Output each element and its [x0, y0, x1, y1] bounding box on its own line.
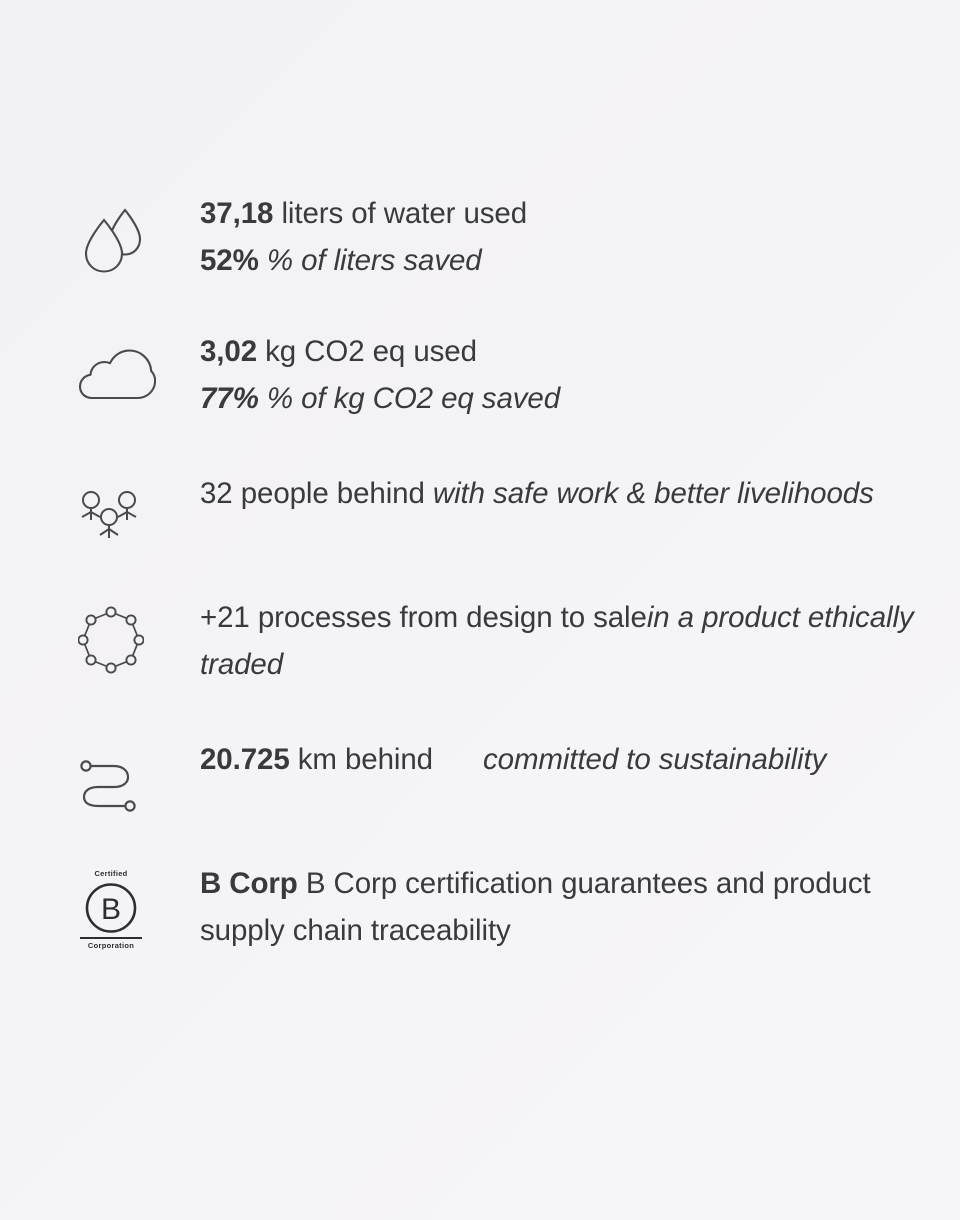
impact-value: 77%	[200, 382, 259, 415]
bcorp-certified-label: Certified	[78, 870, 144, 878]
impact-text-processes: +21 processes from design to salein a pr…	[200, 594, 920, 688]
impact-label: kg CO2 eq used	[265, 335, 477, 368]
impact-value: 37,18	[200, 197, 273, 230]
bcorp-certified-icon: Certified B Corporation	[78, 860, 200, 949]
impact-row-bcorp: Certified B Corporation B Corp B Corp ce…	[78, 860, 920, 954]
impact-label: with safe work & better livelihoods	[433, 477, 874, 510]
impact-text-bcorp: B Corp B Corp certification guarantees a…	[200, 860, 920, 954]
svg-text:B: B	[101, 893, 121, 926]
impact-text-kilometers: 20.725 km behind committed to sustainabi…	[200, 736, 920, 783]
impact-text-co2: 3,02 kg CO2 eq used 77% % of kg CO2 eq s…	[200, 328, 920, 422]
impact-value: B Corp	[200, 867, 298, 900]
impact-label: km behind	[298, 743, 433, 776]
impact-value: 52%	[200, 244, 259, 277]
impact-row-people: 32 people behind with safe work & better…	[78, 470, 920, 542]
cloud-icon	[78, 328, 200, 404]
process-chain-icon	[78, 594, 200, 674]
impact-text-people: 32 people behind with safe work & better…	[200, 470, 920, 517]
impact-value: 20.725	[200, 743, 290, 776]
impact-row-kilometers: 20.725 km behind committed to sustainabi…	[78, 736, 920, 814]
impact-line: 52% % of liters saved	[200, 237, 920, 284]
kilometers-column-primary: 20.725 km behind	[200, 736, 483, 783]
impact-line: 3,02 kg CO2 eq used	[200, 328, 920, 375]
impact-value: 3,02	[200, 335, 257, 368]
kilometers-column-secondary: committed to sustainability	[483, 736, 920, 783]
impact-line: 77% % of kg CO2 eq saved	[200, 375, 920, 422]
route-icon	[78, 736, 200, 814]
people-group-icon	[78, 470, 200, 542]
impact-row-processes: +21 processes from design to salein a pr…	[78, 594, 920, 688]
sustainability-impact-panel: 37,18 liters of water used 52% % of lite…	[0, 0, 960, 1220]
impact-row-co2: 3,02 kg CO2 eq used 77% % of kg CO2 eq s…	[78, 328, 920, 422]
bcorp-divider	[80, 937, 142, 939]
bcorp-logo: Certified B Corporation	[78, 870, 144, 949]
water-droplets-icon	[78, 190, 200, 276]
impact-row-water: 37,18 liters of water used 52% % of lite…	[78, 190, 920, 284]
impact-line: 37,18 liters of water used	[200, 190, 920, 237]
impact-value: 32 people behind	[200, 477, 425, 510]
impact-label: B Corp certification guarantees and prod…	[200, 867, 871, 947]
bcorp-circle-b-mark: B	[78, 881, 144, 935]
impact-label: % of kg CO2 eq saved	[267, 382, 560, 415]
impact-label: liters of water used	[281, 197, 527, 230]
impact-label: % of liters saved	[267, 244, 482, 277]
impact-text-water: 37,18 liters of water used 52% % of lite…	[200, 190, 920, 284]
impact-value: +21 processes from design to sale	[200, 601, 647, 634]
bcorp-corporation-label: Corporation	[78, 942, 144, 950]
